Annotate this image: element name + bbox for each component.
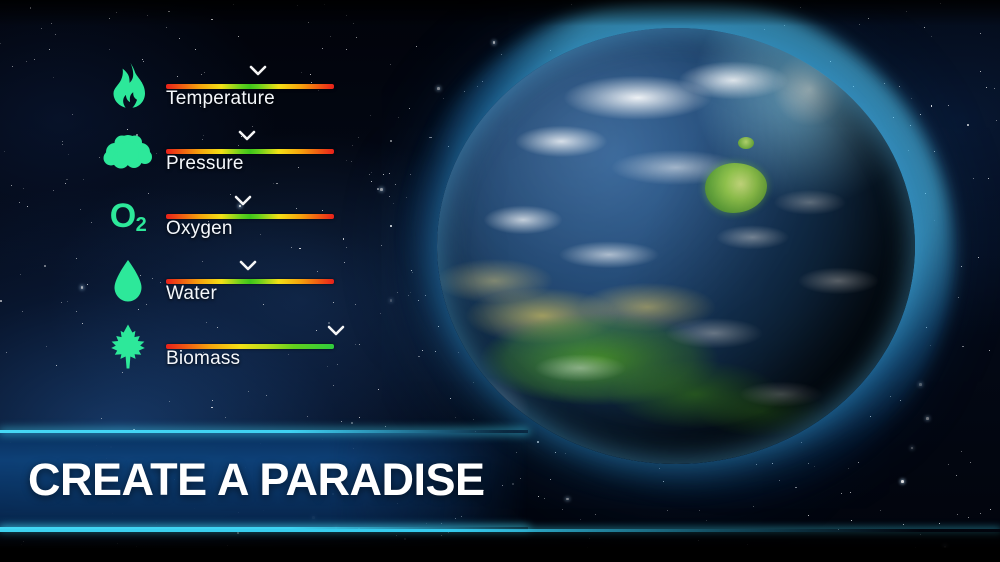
stat-gauge-pressure[interactable] bbox=[166, 127, 334, 154]
stat-row-water[interactable]: Water bbox=[100, 253, 380, 318]
headline-text: CREATE A PARADISE bbox=[28, 454, 485, 506]
stat-label-oxygen: Oxygen bbox=[166, 218, 233, 240]
stat-label-temperature: Temperature bbox=[166, 88, 275, 110]
o2-label: O2 bbox=[110, 199, 147, 233]
chevron-down-icon bbox=[327, 324, 345, 338]
stat-row-temperature[interactable]: Temperature bbox=[100, 58, 380, 123]
chevron-down-icon bbox=[234, 194, 252, 208]
stat-label-pressure: Pressure bbox=[166, 153, 244, 175]
headline-banner: CREATE A PARADISE bbox=[0, 430, 528, 530]
stat-gauge-oxygen[interactable] bbox=[166, 192, 334, 219]
bottom-letterbox bbox=[0, 532, 1000, 562]
banner-top-edge bbox=[0, 430, 528, 433]
stat-row-oxygen[interactable]: O2 Oxygen bbox=[100, 188, 380, 253]
stat-gauge-biomass[interactable] bbox=[166, 322, 334, 349]
planet-sphere bbox=[437, 28, 915, 464]
terraforming-stats-panel: Temperature PressureO2 Oxygen Water Biom… bbox=[100, 58, 380, 383]
cloud-icon bbox=[100, 123, 156, 179]
stat-row-pressure[interactable]: Pressure bbox=[100, 123, 380, 188]
chevron-down-icon bbox=[239, 259, 257, 273]
terraformed-planet bbox=[437, 28, 915, 464]
stat-gauge-water[interactable] bbox=[166, 257, 334, 284]
stat-label-biomass: Biomass bbox=[166, 348, 240, 370]
o2-icon: O2 bbox=[100, 188, 156, 244]
stat-label-water: Water bbox=[166, 283, 217, 305]
flame-icon bbox=[100, 58, 156, 114]
app-screen: Temperature PressureO2 Oxygen Water Biom… bbox=[0, 0, 1000, 562]
stat-row-biomass[interactable]: Biomass bbox=[100, 318, 380, 383]
stat-gauge-temperature[interactable] bbox=[166, 62, 334, 89]
water-droplet-icon bbox=[100, 253, 156, 309]
chevron-down-icon bbox=[238, 129, 256, 143]
leaf-icon bbox=[100, 318, 156, 374]
chevron-down-icon bbox=[249, 64, 267, 78]
planet-rim-light bbox=[437, 28, 915, 464]
